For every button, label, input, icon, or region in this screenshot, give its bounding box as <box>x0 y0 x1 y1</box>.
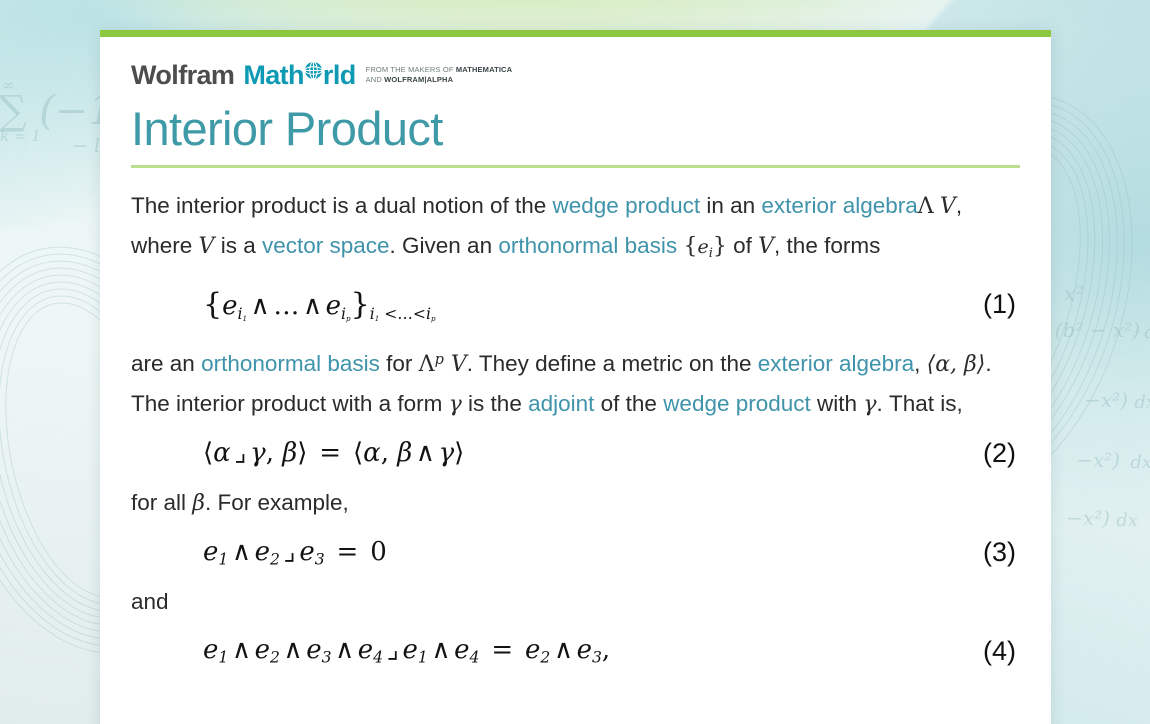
equation-number-3: (3) <box>983 537 1020 568</box>
background-formula-minus-x-squared: −x²) <box>1084 388 1128 412</box>
math-beta-1: β <box>192 491 205 516</box>
background-formula-minus-x-squared-2: −x²) <box>1076 448 1120 472</box>
page-title: Interior Product <box>131 101 1020 157</box>
math-lambda-p-V: Λp V <box>419 352 467 377</box>
equation-2: ⟨α⌟γ, β⟩ = ⟨α, β∧γ⟩ <box>203 438 464 468</box>
p2-text-1: are an <box>131 351 201 376</box>
paragraph-2: are an orthonormal basis for Λp V. They … <box>131 341 1020 424</box>
p2-text-7: of the <box>594 391 663 416</box>
tagline-brand-mathematica: MATHEMATICA <box>456 65 512 74</box>
logo-wolfram-text: Wolfram <box>131 61 234 89</box>
background-formula-k-equals-1: k = 1 <box>0 127 41 145</box>
p3-text-1: for all <box>131 490 192 515</box>
link-exterior-algebra-1[interactable]: exterior algebra <box>761 193 917 218</box>
background-formula-minus-x-squared-3: −x²) <box>1066 506 1110 530</box>
globe-icon <box>304 61 323 80</box>
math-V-3: V <box>758 234 774 259</box>
p1-text-4: is a <box>214 233 262 258</box>
p2-text-6: is the <box>462 391 528 416</box>
math-V-1: V <box>940 194 956 219</box>
paragraph-4: and <box>131 582 1020 621</box>
p1-text-1: The interior product is a dual notion of… <box>131 193 553 218</box>
link-adjoint[interactable]: adjoint <box>528 391 594 416</box>
logo-world-text: rld <box>323 61 356 89</box>
background-formula-dx-2: dx <box>1134 392 1150 413</box>
background-formula-b-squared-minus-x-squared: (b² − x²) <box>1055 318 1140 342</box>
equation-1: {ei1∧…∧eip}i1 <…<ip <box>203 287 436 323</box>
tagline-line1-prefix: FROM THE MAKERS OF <box>366 65 456 74</box>
link-wedge-product-1[interactable]: wedge product <box>553 193 701 218</box>
math-gamma-2: γ <box>863 392 876 417</box>
math-gamma-1: γ <box>449 392 462 417</box>
equation-row-3: e1∧e2⌟e3 = 0 (3) <box>131 537 1020 569</box>
equation-3: e1∧e2⌟e3 = 0 <box>203 537 387 569</box>
background-formula-dx-4: dx <box>1116 510 1138 531</box>
equation-4: e1∧e2∧e3∧e4⌟e1∧e4 = e2∧e3, <box>203 635 610 667</box>
equation-row-4: e1∧e2∧e3∧e4⌟e1∧e4 = e2∧e3, (4) <box>131 635 1020 667</box>
p3-text-2: . For example, <box>205 490 349 515</box>
p2-text-9: . That is, <box>876 391 962 416</box>
tagline-line2-prefix: AND <box>366 75 385 84</box>
paragraph-3: for all β. For example, <box>131 483 1020 523</box>
link-orthonormal-basis-1[interactable]: orthonormal basis <box>498 233 677 258</box>
math-alpha-beta-inner: ⟨α, β⟩ <box>927 352 986 377</box>
article-card: Wolfram Math rld FROM THE MAKERS OF MATH… <box>100 30 1051 724</box>
p2-text-8: with <box>811 391 864 416</box>
logo-math-text: Math <box>243 61 304 89</box>
background-formula-x-squared: x² <box>1064 282 1084 306</box>
equation-number-2: (2) <box>983 438 1020 469</box>
background-formula-dx-1: dx <box>1144 322 1150 343</box>
link-vector-space[interactable]: vector space <box>262 233 390 258</box>
paragraph-1: The interior product is a dual notion of… <box>131 186 1020 273</box>
tagline-brand-wolframalpha: WOLFRAM|ALPHA <box>384 75 453 84</box>
equation-row-2: ⟨α⌟γ, β⟩ = ⟨α, β∧γ⟩ (2) <box>131 438 1020 469</box>
link-orthonormal-basis-2[interactable]: orthonormal basis <box>201 351 380 376</box>
background-formula-dx-3: dx <box>1130 452 1150 473</box>
equation-number-4: (4) <box>983 636 1020 667</box>
math-wedge-symbol: Λ <box>918 194 934 219</box>
title-divider <box>131 165 1020 168</box>
p2-text-2: for <box>380 351 419 376</box>
background-formula-infinity: ∞ <box>2 76 15 94</box>
site-logo[interactable]: Wolfram Math rld FROM THE MAKERS OF MATH… <box>131 61 1020 91</box>
p1-text-7: , the forms <box>774 233 880 258</box>
p1-text-6: of <box>727 233 758 258</box>
link-exterior-algebra-2[interactable]: exterior algebra <box>758 351 914 376</box>
math-basis-set: {ei} <box>683 234 726 259</box>
p2-text-4: , <box>914 351 927 376</box>
math-V-2: V <box>199 234 215 259</box>
logo-tagline: FROM THE MAKERS OF MATHEMATICA AND WOLFR… <box>366 65 513 85</box>
p2-text-3: . They define a metric on the <box>467 351 758 376</box>
equation-number-1: (1) <box>983 289 1020 320</box>
p4-text-1: and <box>131 589 169 614</box>
p1-text-2: in an <box>700 193 761 218</box>
link-wedge-product-2[interactable]: wedge product <box>663 391 811 416</box>
p1-text-5: . Given an <box>390 233 499 258</box>
equation-row-1: {ei1∧…∧eip}i1 <…<ip (1) <box>131 287 1020 323</box>
